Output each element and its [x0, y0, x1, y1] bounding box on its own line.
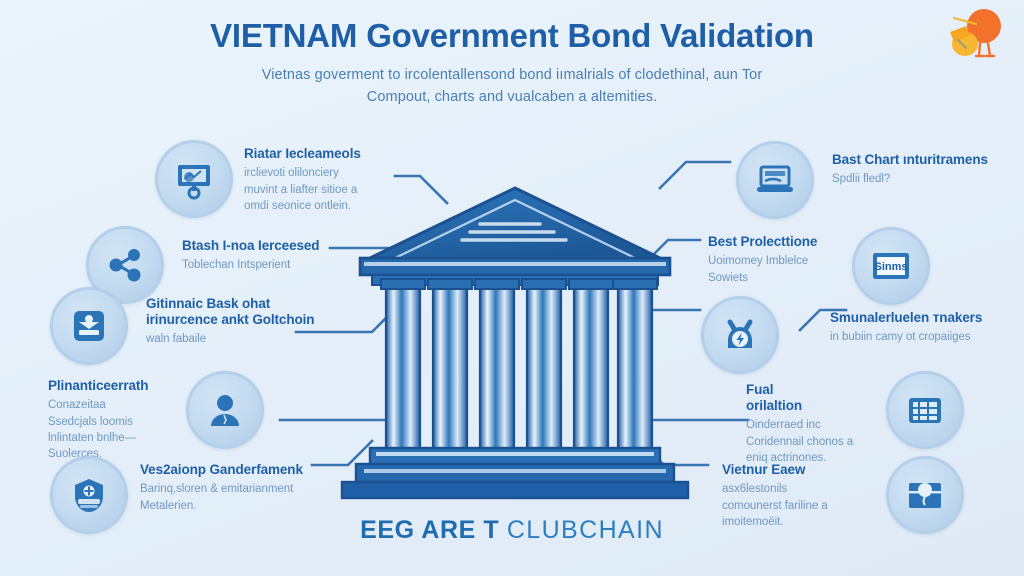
- node-body: Conazeitaa Ѕsedcjals loomis lnlintaten b…: [48, 397, 198, 462]
- node-heading: Btash I-noа Ierceesed: [182, 238, 372, 254]
- monitor-card-icon: Sinms: [852, 227, 930, 305]
- node-heading: Ves2aionp Ganderfamenk: [140, 462, 326, 478]
- document-card-icon: [50, 287, 128, 365]
- energy-bolt-icon: [701, 296, 779, 374]
- node-heading: Riatar Iecleameols: [244, 146, 434, 162]
- node-body: Spdlii fledl?: [832, 171, 1022, 187]
- node-heading: Gitinnaic Bask ohat irinurcence ankt Gol…: [146, 296, 336, 328]
- user-profile-icon: [186, 371, 264, 449]
- subtitle-line-1: Vietnas goverment to ircolentallensond b…: [162, 64, 862, 86]
- footer-light-text: CLUBCHAIN: [507, 516, 664, 544]
- node-heading: Smunalerluelen тnakers: [830, 310, 1015, 326]
- node-heading: Vietnur Eaew: [722, 462, 892, 478]
- government-bank-building: [330, 180, 700, 510]
- node-body: Barinq,sloren & emitarianment Metalerien…: [140, 481, 326, 514]
- orange-blob-decoration: [936, 4, 1016, 66]
- subtitle-line-2: Compout, charts and vualcaben a altemiti…: [162, 86, 862, 108]
- node-body: irclievoti olilonciery muvint a liafter …: [244, 165, 434, 214]
- svg-text:Sinms: Sinms: [874, 261, 907, 273]
- node-body: Toblechan Intsperient: [182, 257, 372, 273]
- presentation-chart-icon: [155, 140, 233, 218]
- node-body: Oinderraed inc Coridennail chonos a eniq…: [746, 417, 886, 466]
- node-body: in bubiin camy ot cropaiiges: [830, 329, 1015, 345]
- page-title: VIETNAM Government Bond Validation: [0, 18, 1024, 55]
- footer-caption: EEG ARE T CLUBCHAIN: [0, 516, 1024, 545]
- laptop-screen-icon: [736, 141, 814, 219]
- page-subtitle: Vietnas goverment to ircolentallensond b…: [162, 64, 862, 109]
- node-body: wаln fabaile: [146, 331, 336, 347]
- header: VIETNAM Government Bond Validation Vietn…: [0, 18, 1024, 109]
- infographic-canvas: VIETNAM Government Bond Validation Vietn…: [0, 0, 1024, 576]
- node-heading: Bast Chart ınturitramens: [832, 152, 1022, 168]
- footer-bold-text: EEG ARE T: [360, 516, 499, 544]
- data-panel-icon: [886, 371, 964, 449]
- node-heading: Plinanticeerrath: [48, 378, 198, 394]
- node-heading: Fuаl orilaltion: [746, 382, 886, 414]
